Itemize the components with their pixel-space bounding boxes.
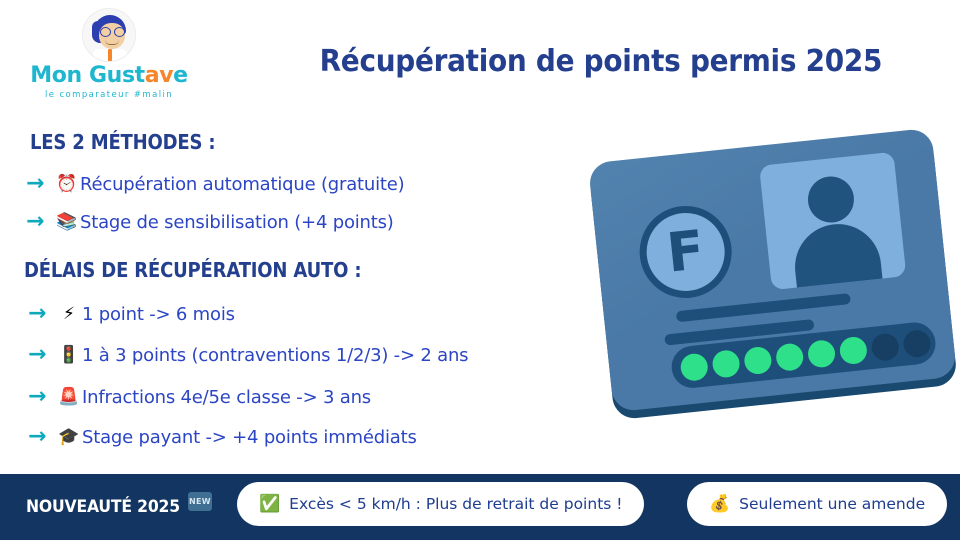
point-dot	[902, 328, 932, 358]
section-heading-delais: DÉLAIS DE RÉCUPÉRATION AUTO :	[24, 258, 361, 282]
section-heading-methodes: LES 2 MÉTHODES :	[30, 130, 215, 154]
arrow-icon: →	[28, 344, 56, 366]
books-icon: 📚	[54, 212, 80, 232]
list-item: → ⏰ Récupération automatique (gratuite)	[26, 173, 404, 195]
arrow-icon: →	[28, 426, 56, 448]
mascot-avatar-icon	[82, 8, 136, 62]
list-item-label: Infractions 4e/5e classe -> 3 ans	[82, 387, 371, 408]
person-silhouette-icon	[759, 152, 906, 290]
brand-tagline: le comparateur #malin	[45, 90, 173, 100]
point-dot	[807, 338, 837, 368]
point-dot	[870, 332, 900, 362]
graduation-cap-icon: 🎓	[56, 427, 82, 447]
arrow-icon: →	[26, 173, 54, 195]
list-item-label: 1 point -> 6 mois	[82, 304, 235, 325]
check-mark-icon: ✅	[259, 494, 280, 514]
list-item: → ⚡ 1 point -> 6 mois	[28, 303, 235, 325]
list-item: → 🚨 Infractions 4e/5e classe -> 3 ans	[28, 386, 371, 408]
brand-logo[interactable]: Mon Gustave le comparateur #malin	[14, 8, 204, 108]
highlight-pill-2-label: Seulement une amende	[739, 495, 925, 513]
highlight-pill-1[interactable]: ✅ Excès < 5 km/h : Plus de retrait de po…	[237, 482, 644, 526]
point-dot	[679, 352, 709, 382]
point-dot	[838, 335, 868, 365]
alarm-clock-icon: ⏰	[54, 174, 80, 194]
list-item-label: Stage payant -> +4 points immédiats	[82, 427, 417, 448]
point-dot	[775, 342, 805, 372]
list-item: → 📚 Stage de sensibilisation (+4 points)	[26, 211, 394, 233]
point-dot	[711, 349, 741, 379]
arrow-icon: →	[28, 303, 56, 325]
brand-name: Mon Gustave	[30, 65, 187, 87]
money-bag-icon: 💰	[709, 494, 730, 514]
traffic-light-icon: 🚦	[56, 345, 82, 365]
lightning-icon: ⚡	[56, 304, 82, 324]
brand-name-part1: Mon Gust	[30, 63, 144, 88]
driving-license-illustration: F	[580, 95, 960, 455]
list-item-label: Stage de sensibilisation (+4 points)	[80, 212, 394, 233]
list-item: → 🎓 Stage payant -> +4 points immédiats	[28, 426, 417, 448]
page-title: Récupération de points permis 2025	[320, 44, 841, 79]
point-dot	[743, 345, 773, 375]
license-card: F	[588, 128, 957, 413]
highlight-pill-2[interactable]: 💰 Seulement une amende	[687, 482, 947, 526]
arrow-icon: →	[26, 211, 54, 233]
list-item: → 🚦 1 à 3 points (contraventions 1/2/3) …	[28, 344, 468, 366]
list-item-label: Récupération automatique (gratuite)	[80, 174, 404, 195]
nouveaute-label: NOUVEAUTÉ 2025	[26, 497, 180, 517]
brand-name-part3: e	[173, 63, 188, 88]
card-face: F	[588, 128, 957, 413]
new-badge-icon: NEW	[188, 492, 212, 511]
siren-icon: 🚨	[56, 387, 82, 407]
license-class-badge: F	[635, 201, 736, 302]
arrow-icon: →	[28, 386, 56, 408]
brand-name-part2: av	[145, 63, 173, 88]
highlight-pill-1-label: Excès < 5 km/h : Plus de retrait de poin…	[289, 495, 622, 513]
list-item-label: 1 à 3 points (contraventions 1/2/3) -> 2…	[82, 345, 468, 366]
card-text-line	[676, 293, 851, 322]
